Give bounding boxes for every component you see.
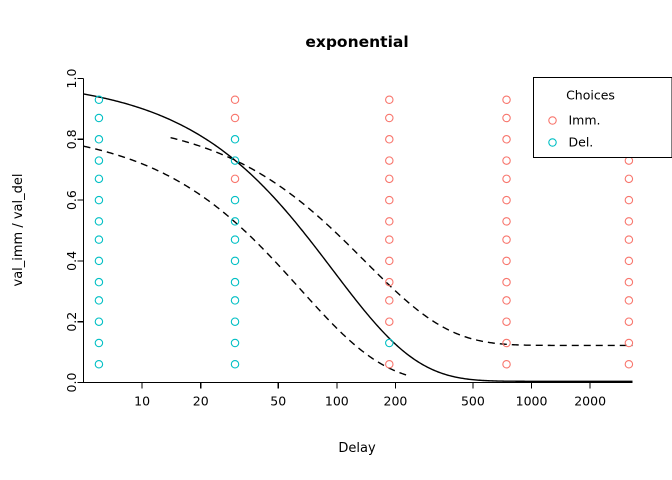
x-tick-label: 1000 bbox=[516, 394, 548, 409]
y-tick-label: 0.4 bbox=[64, 251, 79, 271]
legend-title: Choices bbox=[566, 88, 615, 103]
exponential-discounting-scatter-chart: exponential 0.00.20.40.60.81.0 102050100… bbox=[0, 0, 672, 480]
plot-root: exponential 0.00.20.40.60.81.0 102050100… bbox=[0, 0, 672, 480]
y-tick-label: 0.8 bbox=[64, 129, 79, 149]
chart-title: exponential bbox=[305, 33, 408, 51]
y-tick-label: 0.2 bbox=[64, 312, 79, 332]
legend-item-label: Del. bbox=[569, 135, 594, 150]
x-tick-label: 50 bbox=[270, 394, 286, 409]
x-tick-label: 2000 bbox=[574, 394, 606, 409]
x-tick-label: 200 bbox=[384, 394, 408, 409]
y-tick-label: 0.0 bbox=[64, 373, 79, 393]
x-tick-label: 10 bbox=[134, 394, 150, 409]
legend[interactable]: ChoicesImm.Del. bbox=[534, 78, 672, 158]
y-tick-label: 1.0 bbox=[64, 69, 79, 89]
legend-item-label: Imm. bbox=[569, 113, 601, 128]
x-tick-label: 100 bbox=[325, 394, 349, 409]
y-tick-label: 0.6 bbox=[64, 190, 79, 210]
y-axis-title: val_imm / val_del bbox=[11, 174, 26, 287]
x-tick-label: 20 bbox=[193, 394, 209, 409]
x-axis-title: Delay bbox=[338, 441, 376, 456]
x-tick-label: 500 bbox=[461, 394, 485, 409]
